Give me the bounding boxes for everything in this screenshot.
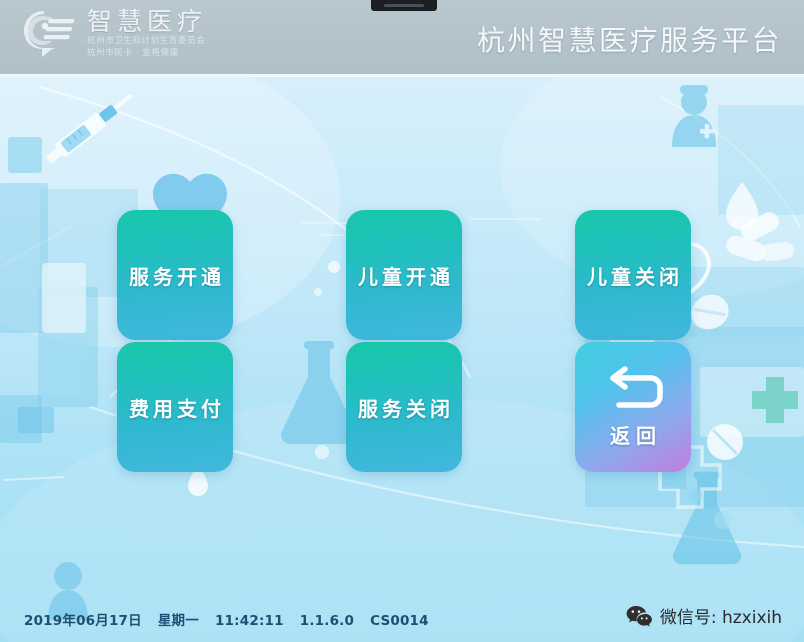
logo-block: 智慧医疗 杭州市卫生和计划生育委员会 杭州市民卡 · 金格健康 [22,8,207,60]
header-divider [0,74,804,77]
status-weekday: 星期一 [158,609,199,629]
menu-tile-label: 返回 [604,420,662,449]
status-version: 1.1.6.0 [300,613,354,629]
menu-tile-label: 儿童开通 [354,261,454,290]
app-header: 智慧医疗 杭州市卫生和计划生育委员会 杭州市民卡 · 金格健康 杭州智慧医疗服务… [0,0,804,74]
menu-tile-label: 服务开通 [125,261,225,290]
kiosk-screen: 智慧医疗 杭州市卫生和计划生育委员会 杭州市民卡 · 金格健康 杭州智慧医疗服务… [0,0,804,642]
logo-subtitle-line1: 杭州市卫生和计划生育委员会 [87,35,207,47]
footer-status-bar: 2019年06月17日 星期一 11:42:11 1.1.6.0 CS0014 [24,609,429,629]
wechat-watermark: 微信号: hzxixih [626,603,782,628]
menu-tile-fee-payment[interactable]: 费用支付 [117,342,233,472]
wechat-watermark-text: 微信号: hzxixih [660,603,782,628]
logo-subtitle-line2: 杭州市民卡 · 金格健康 [87,47,207,59]
status-time: 11:42:11 [215,613,284,629]
page-title: 杭州智慧医疗服务平台 [477,19,782,59]
menu-tile-label: 儿童关闭 [583,261,683,290]
device-bezel-notch [371,0,437,11]
status-terminal-id: CS0014 [370,613,429,629]
menu-tile-child-open[interactable]: 儿童开通 [346,210,462,340]
speaker-grille [384,4,424,7]
menu-tile-service-close[interactable]: 服务关闭 [346,342,462,472]
logo-text-group: 智慧医疗 杭州市卫生和计划生育委员会 杭州市民卡 · 金格健康 [87,9,207,60]
main-menu-grid: 服务开通 费用支付 儿童开通 服务关闭 儿童关闭 返回 [0,77,804,577]
status-date: 2019年06月17日 [24,609,142,629]
logo-title: 智慧医疗 [87,9,207,35]
wechat-icon [626,605,652,627]
smart-healthcare-logo-icon [22,8,80,60]
menu-tile-back[interactable]: 返回 [575,342,691,472]
menu-tile-service-open[interactable]: 服务开通 [117,210,233,340]
menu-tile-child-close[interactable]: 儿童关闭 [575,210,691,340]
menu-tile-label: 费用支付 [125,393,225,422]
menu-tile-label: 服务关闭 [354,393,454,422]
return-arrow-icon [601,366,665,416]
